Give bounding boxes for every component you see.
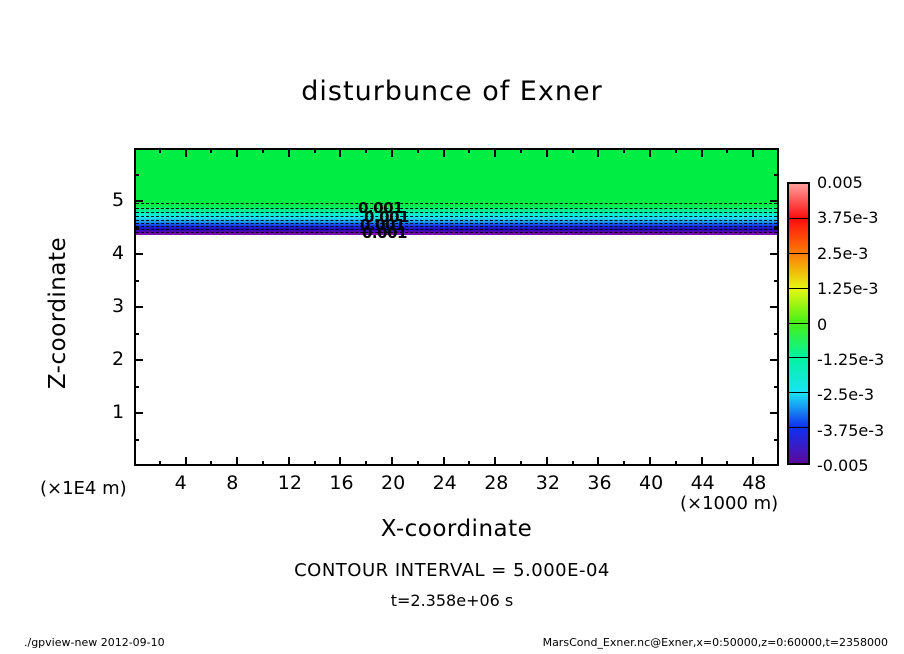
- colorbar-tick-label: 2.5e-3: [817, 244, 868, 263]
- colorbar-tick-label: -3.75e-3: [817, 421, 884, 440]
- x-tick-label: 4: [175, 472, 187, 494]
- y-tick-minor: [134, 227, 139, 229]
- contour-line: [136, 216, 777, 217]
- x-tick-major: [443, 148, 445, 157]
- x-tick-major: [339, 148, 341, 157]
- x-tick-major: [701, 457, 703, 466]
- colorbar-band: [789, 393, 808, 428]
- contour-label: 0.001: [362, 224, 407, 242]
- contour-line: [136, 208, 777, 209]
- y-tick-label: 2: [112, 348, 124, 370]
- x-tick-major: [752, 457, 754, 466]
- y-tick-major: [134, 359, 143, 361]
- x-tick-minor: [726, 148, 728, 153]
- y-tick-minor: [134, 280, 139, 282]
- colorbar-tick-label: 0.005: [817, 173, 863, 192]
- fill-region-edge: [136, 233, 777, 235]
- x-tick-minor: [210, 148, 212, 153]
- y-tick-minor: [774, 333, 779, 335]
- colorbar-band: [789, 184, 808, 219]
- x-tick-minor: [726, 461, 728, 466]
- x-axis-unit-label: (×1000 m): [680, 493, 778, 514]
- x-tick-minor: [365, 148, 367, 153]
- x-axis-title: X-coordinate: [134, 516, 779, 542]
- y-tick-label: 5: [112, 189, 124, 211]
- y-tick-minor: [774, 386, 779, 388]
- x-tick-label: 20: [381, 472, 405, 494]
- x-tick-major: [236, 148, 238, 157]
- x-tick-label: 36: [587, 472, 611, 494]
- y-tick-minor: [134, 386, 139, 388]
- colorbar-band: [789, 254, 808, 289]
- y-tick-major: [134, 306, 143, 308]
- y-tick-minor: [774, 439, 779, 441]
- x-tick-major: [185, 457, 187, 466]
- x-tick-minor: [623, 148, 625, 153]
- y-axis-title: Z-coordinate: [45, 193, 71, 433]
- y-tick-major: [134, 412, 143, 414]
- x-tick-minor: [675, 148, 677, 153]
- y-tick-minor: [134, 174, 139, 176]
- y-tick-major: [770, 253, 779, 255]
- x-tick-minor: [262, 461, 264, 466]
- colorbar-tick-label: -1.25e-3: [817, 350, 884, 369]
- x-tick-major: [494, 457, 496, 466]
- x-tick-label: 40: [639, 472, 663, 494]
- footer-dataset: MarsCond_Exner.nc@Exner,x=0:50000,z=0:60…: [543, 636, 888, 649]
- x-tick-major: [597, 457, 599, 466]
- colorbar-tick-label: -2.5e-3: [817, 385, 874, 404]
- x-tick-major: [649, 457, 651, 466]
- x-tick-minor: [365, 461, 367, 466]
- y-axis-unit-label: (×1E4 m): [40, 478, 127, 499]
- colorbar-band: [789, 324, 808, 359]
- y-tick-label: 3: [112, 295, 124, 317]
- colorbar-tick-label: 1.25e-3: [817, 279, 878, 298]
- x-tick-major: [288, 148, 290, 157]
- contour-line: [136, 232, 777, 233]
- contour-line: [136, 226, 777, 227]
- x-tick-minor: [314, 148, 316, 153]
- page-title: disturbunce of Exner: [0, 76, 904, 107]
- colorbar-band: [789, 358, 808, 393]
- x-tick-major: [649, 148, 651, 157]
- colorbar: [787, 182, 810, 465]
- x-tick-label: 16: [329, 472, 353, 494]
- y-tick-minor: [774, 227, 779, 229]
- x-tick-label: 8: [226, 472, 238, 494]
- contour-line: [136, 203, 777, 204]
- x-tick-minor: [675, 461, 677, 466]
- x-tick-minor: [468, 461, 470, 466]
- fill-region-uniform: [136, 150, 777, 205]
- x-tick-minor: [520, 461, 522, 466]
- x-tick-major: [546, 148, 548, 157]
- x-tick-major: [391, 148, 393, 157]
- time-label: t=2.358e+06 s: [0, 591, 904, 610]
- y-tick-minor: [774, 280, 779, 282]
- x-tick-minor: [417, 148, 419, 153]
- contour-line: [136, 220, 777, 221]
- x-tick-major: [236, 457, 238, 466]
- x-tick-label: 48: [742, 472, 766, 494]
- x-tick-major: [752, 148, 754, 157]
- x-tick-minor: [572, 461, 574, 466]
- x-tick-label: 32: [536, 472, 560, 494]
- x-tick-label: 28: [484, 472, 508, 494]
- contour-line: [136, 223, 777, 224]
- y-tick-major: [770, 306, 779, 308]
- x-tick-major: [701, 148, 703, 157]
- plot-area: 0.001 0.001 0.001 0.001: [134, 148, 779, 466]
- x-tick-minor: [572, 148, 574, 153]
- x-tick-major: [546, 457, 548, 466]
- y-tick-minor: [134, 333, 139, 335]
- y-tick-major: [134, 200, 143, 202]
- contour-line: [136, 212, 777, 213]
- y-tick-label: 4: [112, 242, 124, 264]
- x-tick-minor: [417, 461, 419, 466]
- x-tick-major: [288, 457, 290, 466]
- x-tick-minor: [314, 461, 316, 466]
- footer-command: ./gpview-new 2012-09-10: [24, 636, 165, 649]
- y-tick-major: [770, 200, 779, 202]
- x-tick-major: [494, 148, 496, 157]
- colorbar-tick-label: 3.75e-3: [817, 208, 878, 227]
- colorbar-tick-label: -0.005: [817, 456, 869, 475]
- y-tick-label: 1: [112, 401, 124, 423]
- x-tick-major: [391, 457, 393, 466]
- colorbar-band: [789, 428, 808, 463]
- colorbar-band: [789, 219, 808, 254]
- x-tick-minor: [159, 461, 161, 466]
- y-tick-major: [770, 412, 779, 414]
- x-tick-minor: [262, 148, 264, 153]
- x-tick-minor: [210, 461, 212, 466]
- x-tick-minor: [159, 148, 161, 153]
- y-tick-major: [770, 359, 779, 361]
- x-tick-label: 24: [433, 472, 457, 494]
- x-tick-major: [339, 457, 341, 466]
- colorbar-tick-label: 0: [817, 315, 827, 334]
- x-tick-minor: [623, 461, 625, 466]
- y-tick-minor: [774, 174, 779, 176]
- x-tick-label: 44: [691, 472, 715, 494]
- x-tick-minor: [520, 148, 522, 153]
- y-tick-major: [134, 253, 143, 255]
- x-tick-label: 12: [278, 472, 302, 494]
- x-tick-major: [443, 457, 445, 466]
- y-tick-minor: [134, 439, 139, 441]
- contour-interval-label: CONTOUR INTERVAL = 5.000E-04: [0, 560, 904, 581]
- x-tick-major: [185, 148, 187, 157]
- x-tick-minor: [468, 148, 470, 153]
- colorbar-band: [789, 289, 808, 324]
- contour-line: [136, 229, 777, 230]
- x-tick-major: [597, 148, 599, 157]
